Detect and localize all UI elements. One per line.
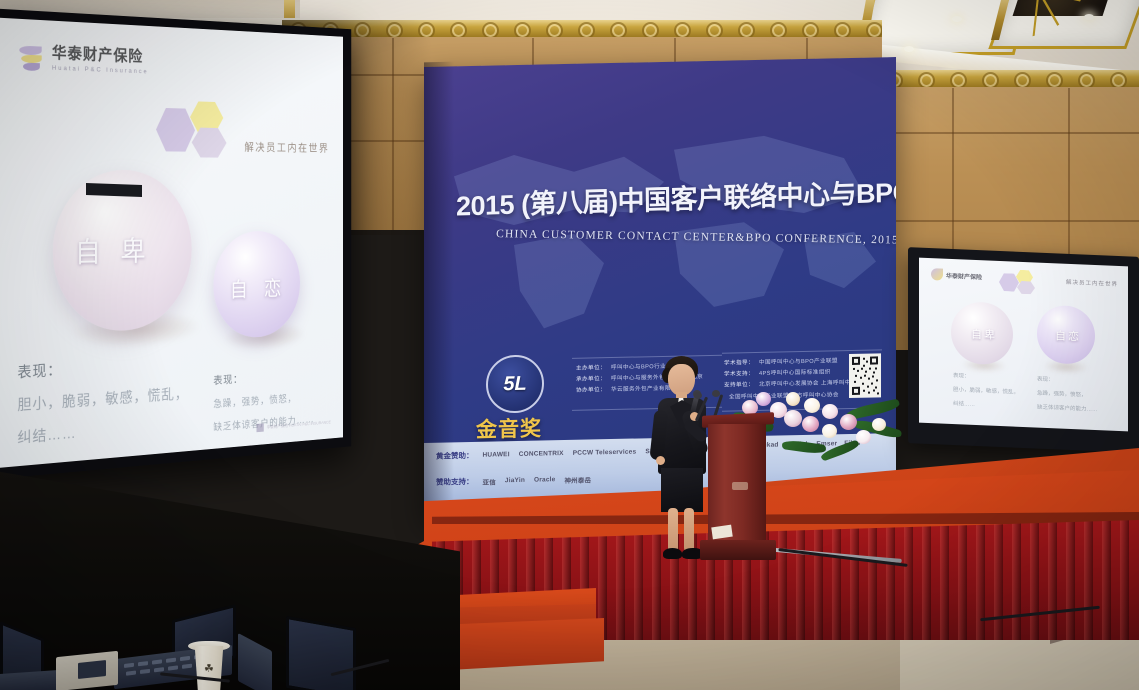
flower-icon [822,424,837,438]
coffee-cup-logo-icon: ☘ [204,662,216,675]
presenter-skirt [661,468,703,512]
projection-screen: 华泰财产保险 Huatai P&C Insurance 解决员工内在世界 自 卑… [0,8,351,480]
conference-photo-scene: 华泰财产保险 Huatai P&C Insurance 解决员工内在世界 自 卑… [0,0,1139,690]
monitor-hexagon-decoration [999,269,1039,293]
monitor-subtitle: 解决员工内在世界 [1066,278,1118,288]
slide-column-heading: 表现： [17,352,188,382]
podium-emblem [732,482,748,490]
monitor-stand [86,183,142,197]
flower-icon [840,414,857,430]
laptop-keyboard-left[interactable] [0,670,64,690]
monitor-text-line: 急躁，强势，愤怒， [1037,389,1087,403]
flower-icon [872,418,886,431]
presenter-leg-right [684,508,694,552]
slide-hexagon-decoration [156,100,236,163]
slide-bubble-label-small: 自 恋 [230,272,287,303]
slide-column-heading: 表现： [213,366,314,387]
monitor-slide-logo: 华泰财产保险 [931,268,982,282]
banner-edge-shadow [424,62,454,515]
control-tablet-screen[interactable] [78,660,106,679]
ceiling-grille-icon [1013,0,1118,16]
corner-logo-mark-icon [256,423,263,432]
slide-bubble-label-large: 自 卑 [75,229,152,271]
organizer-label: 承办单位： [576,374,606,386]
slide-text-column-left: 表现： 胆小，脆弱，敏感，慌乱， 纠结…… [17,352,188,459]
sponsor-logo: CONCENTRIX [519,450,564,458]
monitor-bubble-label: 自恋 [1055,327,1081,344]
slide-text-column-right: 表现： 急躁，强势，愤怒， 缺乏体谅客户的能力…… [213,366,314,443]
award-badge-icon: 5L [486,354,544,413]
gooseneck-microphone-head-icon [694,392,702,399]
fg-monitor-right[interactable] [286,616,356,690]
sponsor-row-support: 赞助支持： 亚信 JiaYin Oracle 神州泰岳 [436,473,591,487]
control-tablet-device[interactable] [56,651,118,690]
organizer-label: 主办单位： [576,363,606,375]
award-badge-number: 5L [503,372,526,395]
organizer-label: 协办单位： [576,386,606,398]
hexagon-icon [156,108,195,152]
gold-frieze [880,70,1139,87]
sponsor-logo: HUAWEI [483,451,510,459]
presenter-leg-left [668,508,678,552]
huatai-logo-icon [931,268,943,281]
hexagon-icon [192,127,227,157]
flower-icon [822,404,838,419]
sponsor-logo: 神州泰岳 [564,474,591,485]
monitor-text-line: 表现： [1037,375,1054,387]
flower-icon [784,410,802,427]
slide-logo-en: Huatai P&C Insurance [52,65,149,76]
huatai-logo-icon [17,42,45,73]
monitor-bubble-label: 自卑 [971,326,997,343]
monitor-text-line: 表现： [953,371,970,383]
downlight-icon [952,16,962,22]
sponsor-logo: JiaYin [505,477,525,484]
sponsor-logo: 亚信 [483,476,496,486]
slide-column-line: 急躁，强势，愤怒， [213,390,314,411]
sponsor-logo: PCCW Teleservices [573,448,637,456]
flower-icon [802,416,819,432]
slide-logo-cn: 华泰财产保险 [52,46,149,66]
downlight-icon [1084,14,1094,20]
downlight-icon [904,46,914,52]
slide-subtitle: 解决员工内在世界 [244,140,329,156]
monitor-text-line: 缺乏体谅客户的能力…… [1037,403,1098,417]
flower-icon [756,392,771,406]
slide-brand-logo: 华泰财产保险 Huatai P&C Insurance [17,42,148,77]
gooseneck-microphone-head-icon [712,390,720,397]
slide-column-line: 胆小，脆弱，敏感，慌乱， [17,383,188,415]
presenter-hand-left [656,456,665,465]
slide-column-line: 纠结…… [17,414,188,448]
flower-icon [804,398,820,413]
flower-icon [856,430,871,444]
stage-confidence-monitor: 华泰财产保险 解决员工内在世界 自卑 自恋 表现： 胆小，脆弱，敏感，慌乱， 纠… [908,247,1139,453]
award-name-text: 金音奖 [476,412,542,443]
flower-icon [786,392,800,406]
monitor-logo-cn: 华泰财产保险 [946,270,982,281]
monitor-text-line: 胆小，脆弱，敏感，慌乱， [953,385,1019,399]
monitor-text-line: 纠结…… [953,399,975,411]
projection-screen-surface: 华泰财产保险 Huatai P&C Insurance 解决员工内在世界 自 卑… [0,17,343,468]
sponsor-logo: Oracle [534,476,555,483]
monitor-screen-surface: 华泰财产保险 解决员工内在世界 自卑 自恋 表现： 胆小，脆弱，敏感，慌乱， 纠… [919,258,1128,432]
podium-lectern [706,414,768,562]
presenter-shoe-left [663,548,682,559]
podium-base [700,540,776,560]
